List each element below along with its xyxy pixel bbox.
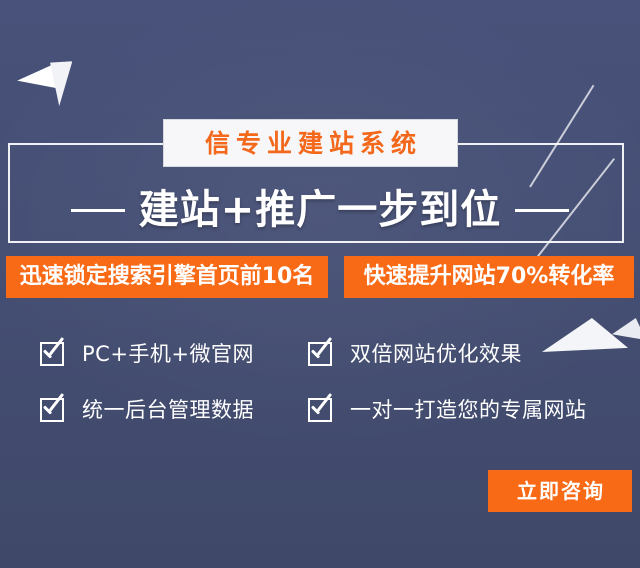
- feature-item: PC+手机+微官网: [0, 326, 298, 382]
- consult-now-button[interactable]: 立即咨询: [488, 470, 632, 512]
- checkmark-stroke-long: [49, 337, 64, 355]
- paper-plane-top-left-icon: [14, 58, 84, 116]
- checkbox-checked-icon: [40, 398, 64, 422]
- checkbox-checked-icon: [308, 342, 332, 366]
- checkmark-stroke-long: [317, 337, 332, 355]
- highlight-strip-left-label: 迅速锁定搜索引擎首页前10名: [20, 266, 315, 288]
- checkbox-checked-icon: [308, 398, 332, 422]
- highlight-strip-right-label: 快速提升网站70%转化率: [364, 266, 615, 288]
- feature-row: 统一后台管理数据 一对一打造您的专属网站: [0, 382, 640, 438]
- feature-row: PC+手机+微官网 双倍网站优化效果: [0, 326, 640, 382]
- badge: 信专业建站系统: [163, 119, 458, 167]
- headline: 建站+推广一步到位: [0, 182, 640, 238]
- checkmark: [312, 339, 336, 361]
- highlight-strip-right: 快速提升网站70%转化率: [344, 256, 634, 298]
- feature-list: PC+手机+微官网 双倍网站优化效果: [0, 326, 640, 438]
- badge-label: 信专业建站系统: [199, 131, 422, 156]
- checkmark: [44, 395, 68, 417]
- feature-item-label: 一对一打造您的专属网站: [350, 400, 587, 421]
- feature-item: 统一后台管理数据: [0, 382, 298, 438]
- consult-now-button-label: 立即咨询: [515, 481, 605, 501]
- promo-banner: 信专业建站系统 建站+推广一步到位 迅速锁定搜索引擎首页前10名 快速提升网站7…: [0, 0, 640, 568]
- checkbox-checked-icon: [40, 342, 64, 366]
- feature-item-label: 统一后台管理数据: [82, 400, 254, 421]
- feature-item-label: PC+手机+微官网: [82, 344, 254, 365]
- highlight-strip-left: 迅速锁定搜索引擎首页前10名: [6, 256, 328, 298]
- feature-item: 一对一打造您的专属网站: [298, 382, 640, 438]
- highlight-strips: 迅速锁定搜索引擎首页前10名 快速提升网站70%转化率: [0, 256, 640, 298]
- checkmark: [312, 395, 336, 417]
- checkmark: [44, 339, 68, 361]
- plane-wing-right: [46, 59, 73, 107]
- checkmark-stroke-long: [317, 393, 332, 411]
- feature-item: 双倍网站优化效果: [298, 326, 640, 382]
- feature-item-label: 双倍网站优化效果: [350, 344, 522, 365]
- headline-rule-left: [71, 209, 125, 212]
- checkmark-stroke-long: [49, 393, 64, 411]
- headline-label: 建站+推广一步到位: [139, 190, 502, 230]
- plane-wing-left: [12, 63, 59, 95]
- headline-rule-right: [515, 209, 569, 212]
